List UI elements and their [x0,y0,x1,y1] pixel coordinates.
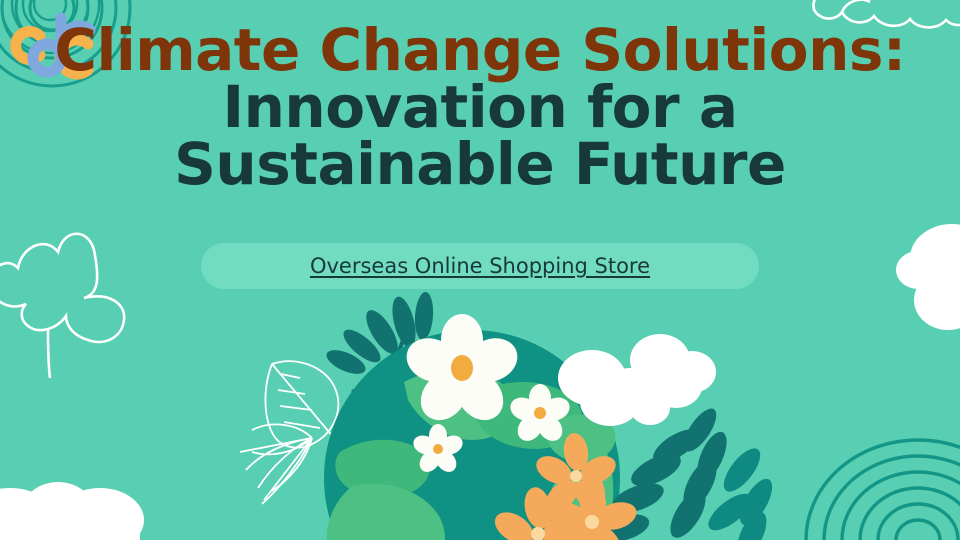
cloud-over-globe-icon [558,350,670,426]
daisy-flower-large-icon [400,314,524,429]
presentation-slide: Climate Change Solutions: Innovation for… [0,0,960,540]
daisy-flower-medium-icon [507,384,573,446]
page-title: Climate Change Solutions: Innovation for… [0,22,960,192]
subtitle: Overseas Online Shopping Store [201,243,759,289]
green-leaf-blade [572,442,614,540]
globe-top-leaves-icon [323,291,434,392]
earth-globe-illustration [323,291,778,540]
orange-flower-middle-icon [544,474,640,540]
cloud-solid-bottom-left-icon [0,482,144,540]
title-rest: Innovation for a Sustainable Future [174,73,786,198]
spiral-rings-bottom-right-icon [806,440,960,540]
fern-branch-right-2-icon [703,443,779,540]
leaf-outline-left-icon [240,361,338,504]
orange-flower-bottom-icon [489,485,586,540]
daisy-flower-small-icon [411,424,466,476]
globe-continents [327,370,616,540]
cloud-solid-right-icon [896,224,960,330]
fern-branch-right-icon [596,404,733,540]
subtitle-label: Overseas Online Shopping Store [310,254,650,278]
cloud-outline-left-tail-icon [48,330,50,378]
cloud-outline-left-icon [0,234,124,342]
cloud-over-globe-2-icon [630,334,716,408]
cloud-outline-top-right-b-icon [842,0,870,12]
orange-flower-top-icon [532,432,621,518]
globe-ocean [324,330,620,540]
